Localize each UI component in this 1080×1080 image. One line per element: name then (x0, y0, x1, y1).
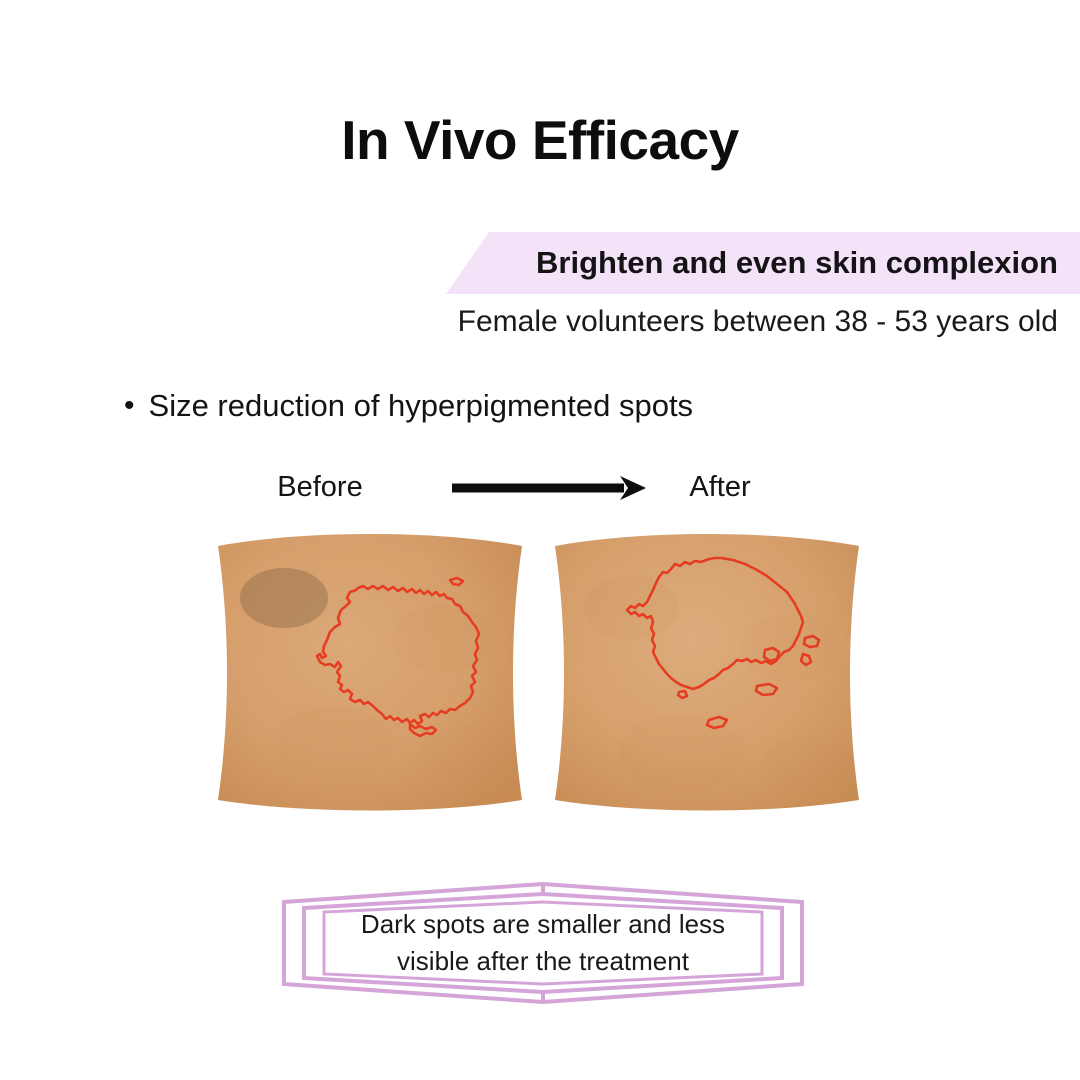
skin-patch-after-image (551, 528, 863, 816)
slide-canvas: In Vivo Efficacy Brighten and even skin … (0, 0, 1080, 1080)
claim-banner-label: Brighten and even skin complexion (502, 232, 1058, 294)
skin-patch-before-image (214, 528, 526, 816)
conclusion-line-2: visible after the treatment (316, 943, 770, 980)
after-label: After (689, 466, 750, 508)
bullet-list-item: • Size reduction of hyperpigmented spots (124, 385, 693, 427)
claim-subtitle: Female volunteers between 38 - 53 years … (458, 305, 1058, 339)
bullet-item-label: Size reduction of hyperpigmented spots (149, 385, 694, 427)
page-title: In Vivo Efficacy (0, 112, 1080, 170)
conclusion-line-1: Dark spots are smaller and less (316, 906, 770, 943)
conclusion-callout: Dark spots are smaller and less visible … (282, 878, 804, 1008)
bullet-marker-icon: • (124, 385, 135, 427)
comparison-header: Before After (216, 466, 864, 508)
before-label: Before (277, 466, 362, 508)
claim-banner: Brighten and even skin complexion (446, 232, 1080, 294)
conclusion-text: Dark spots are smaller and less visible … (316, 906, 770, 980)
arrow-right-icon (452, 474, 648, 502)
